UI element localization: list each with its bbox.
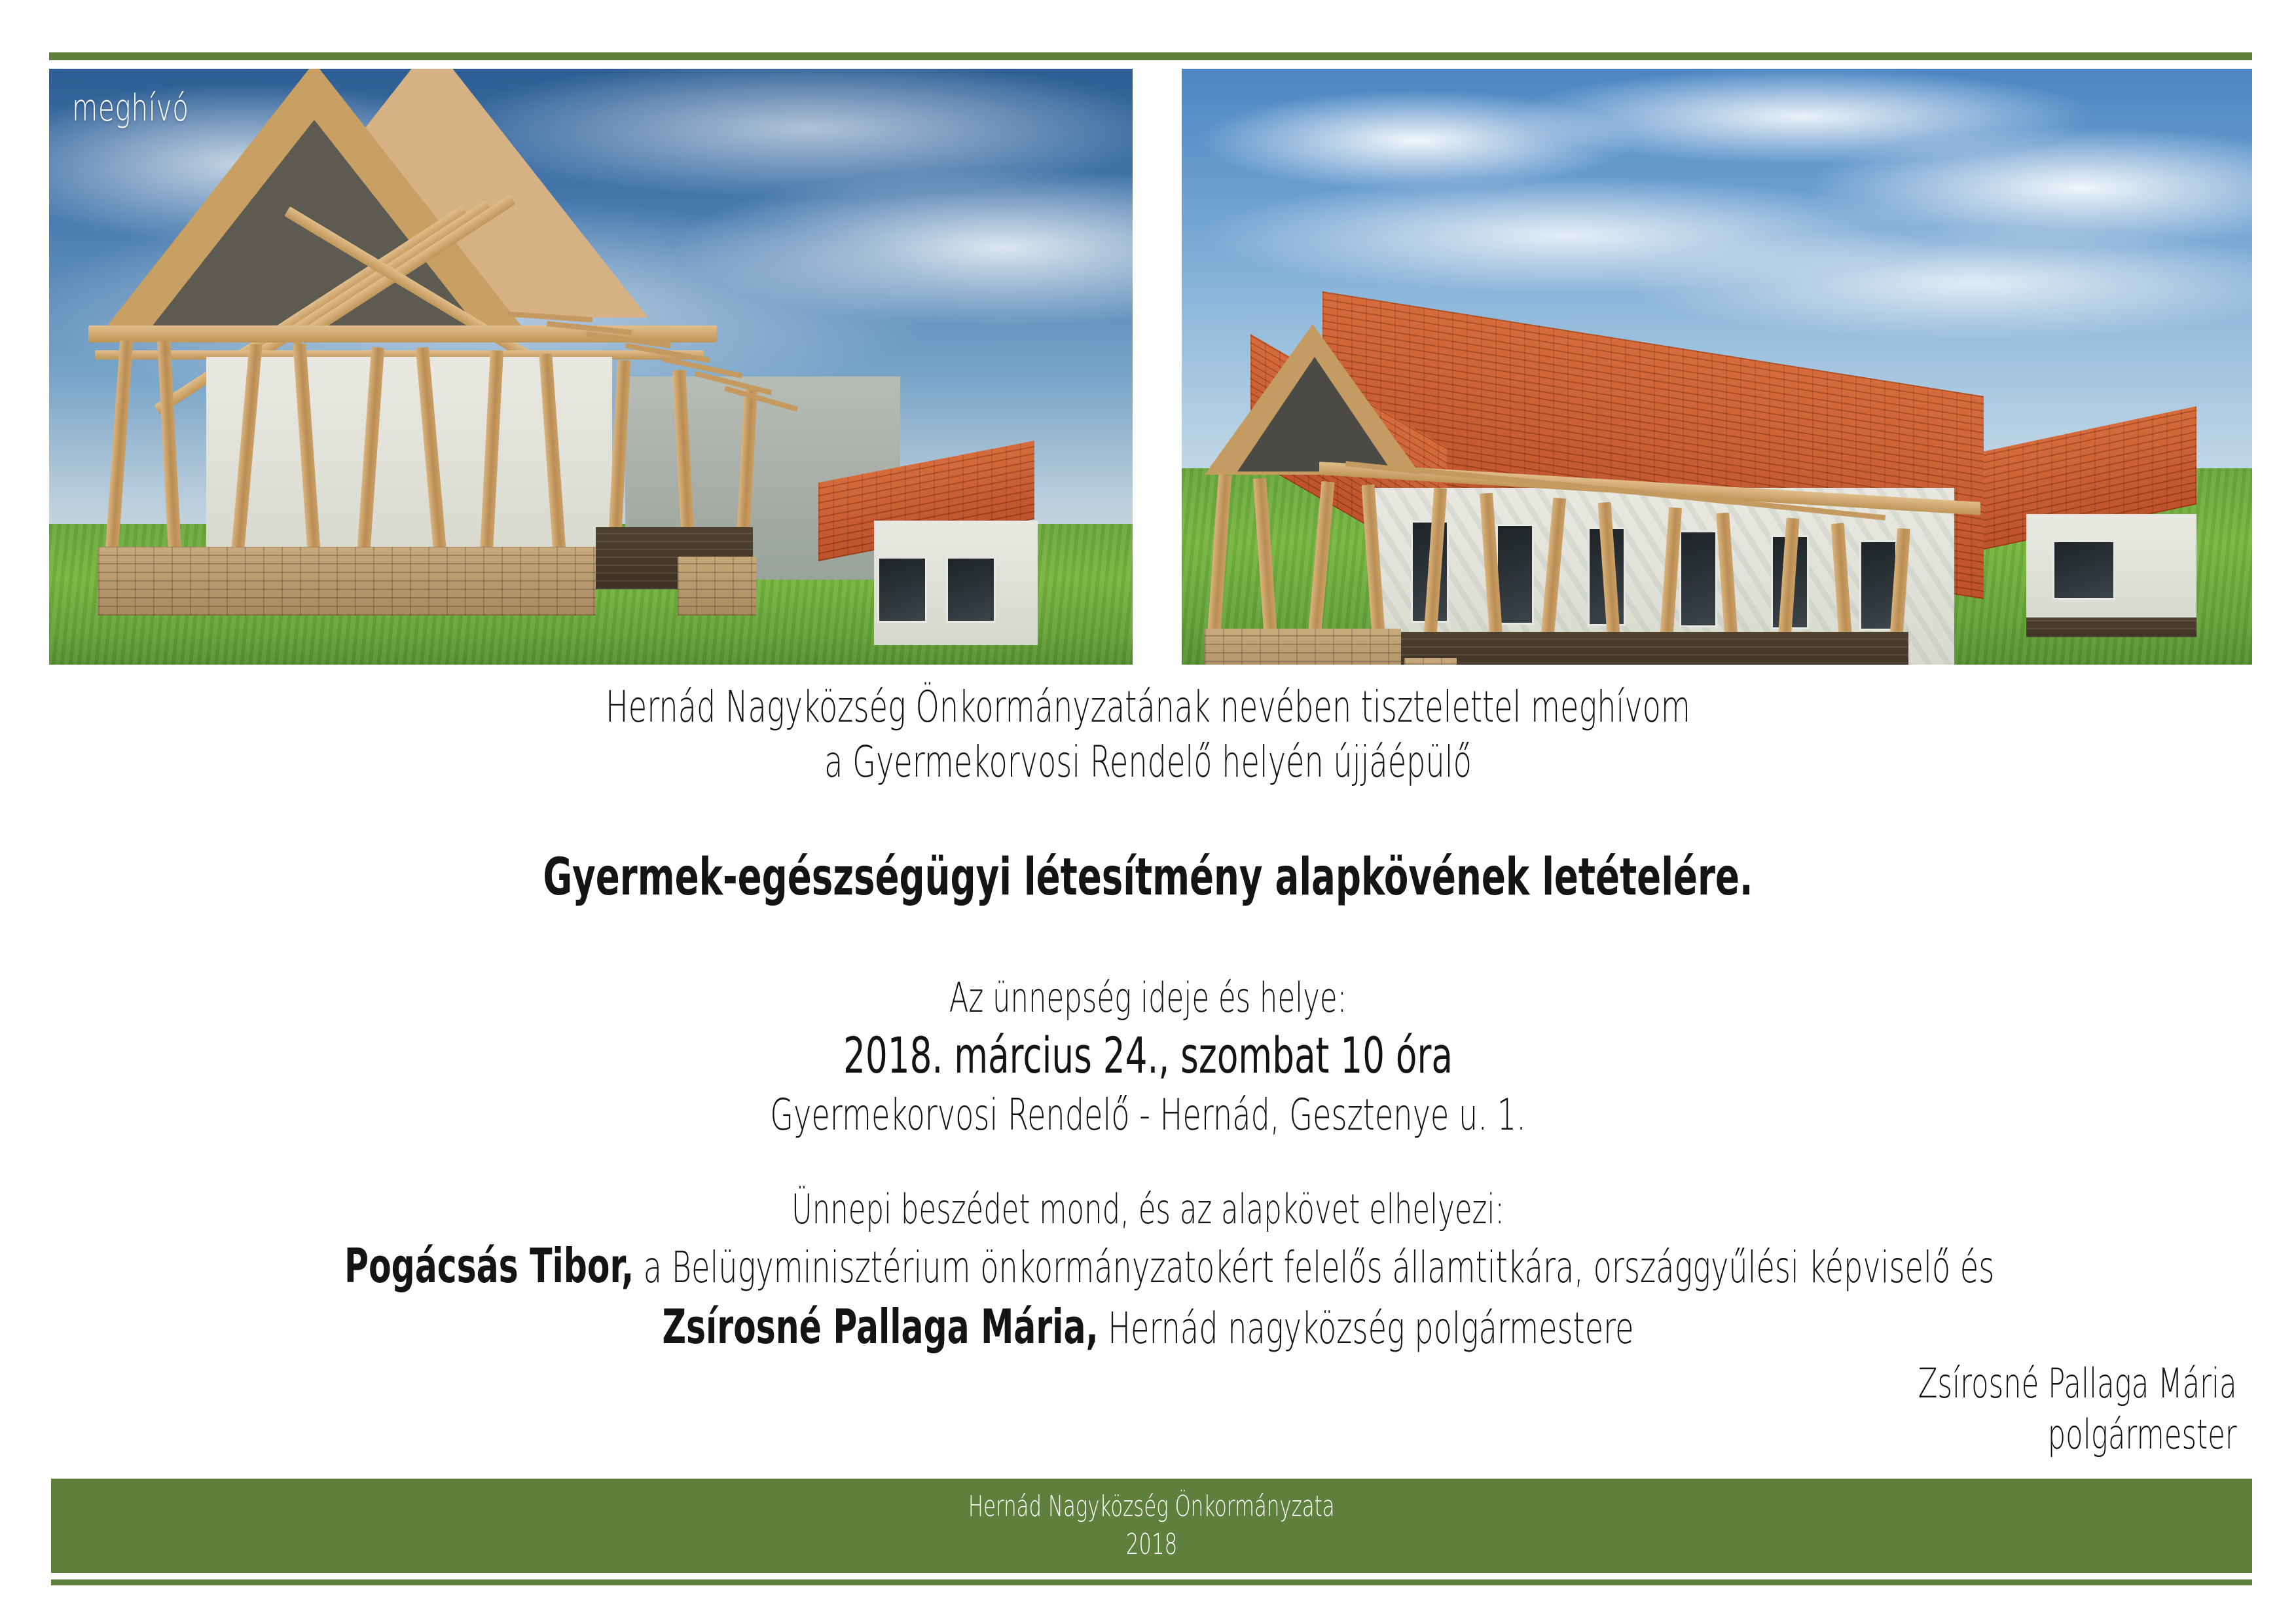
invitation-headline: Gyermek-egészségügyi létesítmény alapköv… <box>344 846 1952 909</box>
brick-plinth <box>1205 629 1401 665</box>
speaker-row-1: Pogácsás Tibor, a Belügyminisztérium önk… <box>344 1236 1952 1297</box>
brick-pier <box>678 557 756 616</box>
signature-role: polgármester <box>1918 1409 2237 1460</box>
speaker-row-2: Zsírosné Pallaga Mária, Hernád nagyközsé… <box>344 1297 1952 1358</box>
brick-plinth <box>98 547 596 616</box>
event-venue: Gyermekorvosi Rendelő - Hernád, Geszteny… <box>344 1087 1952 1143</box>
speech-label: Ünnepi beszédet mond, és az alapkövet el… <box>344 1183 1952 1236</box>
intro-line-2: a Gyermekorvosi Rendelő helyén újjáépülő <box>344 735 1952 790</box>
intro-line-1: Hernád Nagyközség Önkormányzatának nevéb… <box>344 680 1952 735</box>
bottom-accent-rule <box>51 1579 2252 1585</box>
footer-bar: Hernád Nagyközség Önkormányzata 2018 <box>51 1479 2252 1573</box>
far-wing-window <box>2052 540 2115 600</box>
meghivo-caption: meghívó <box>72 87 189 130</box>
hero-image-band: meghívó <box>49 69 2252 665</box>
facade-window <box>1496 524 1534 625</box>
speaker-name: Zsírosné Pallaga Mária, <box>662 1299 1098 1354</box>
when-where-label: Az ünnepség ideje és helye: <box>344 972 1952 1024</box>
wing-window <box>946 557 996 623</box>
invitation-body: Hernád Nagyközség Önkormányzatának nevéb… <box>0 680 2296 1358</box>
far-wing-base <box>2026 618 2196 637</box>
spacer <box>0 790 2296 846</box>
wing-window <box>877 557 927 623</box>
gable-opening <box>1237 357 1392 471</box>
signature-block: Zsírosné Pallaga Mária polgármester <box>1781 1358 2237 1460</box>
brick-pier <box>1404 658 1457 665</box>
speaker-title: Hernád nagyközség polgármestere <box>1099 1303 1634 1354</box>
signature-name: Zsírosné Pallaga Mária <box>1918 1358 2237 1409</box>
spacer <box>0 1143 2296 1183</box>
footer-year: 2018 <box>1126 1526 1177 1564</box>
event-date: 2018. március 24., szombat 10 óra <box>344 1024 1952 1087</box>
top-accent-rule <box>49 52 2252 60</box>
speaker-name: Pogácsás Tibor, <box>344 1238 634 1293</box>
speaker-title: a Belügyminisztérium önkormányzatokért f… <box>634 1242 1994 1293</box>
construction-render-image: meghívó <box>49 69 1133 665</box>
completed-render-image <box>1182 69 2252 665</box>
footer-organization: Hernád Nagyközség Önkormányzata <box>968 1488 1335 1526</box>
spacer <box>0 909 2296 972</box>
facade-window <box>1679 530 1717 627</box>
